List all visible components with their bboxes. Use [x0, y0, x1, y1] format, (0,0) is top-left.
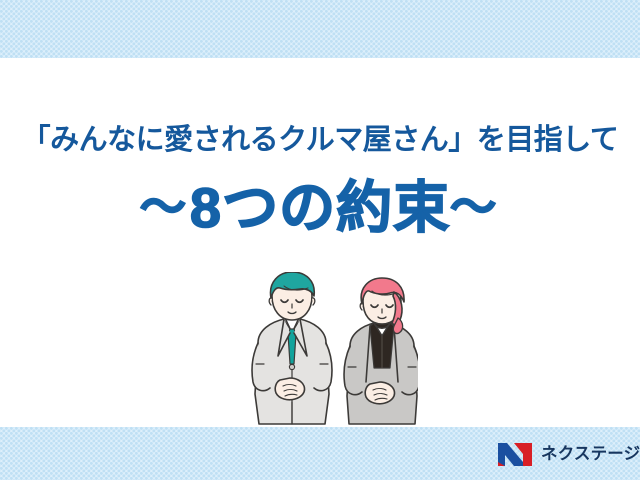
nexstage-logo: ネクステージ	[498, 441, 640, 467]
headline-tilde-left: ～	[140, 181, 190, 233]
staff-illustration	[228, 272, 418, 432]
male-staff-figure	[252, 272, 332, 424]
headline-main: ～8つの約束～	[0, 180, 640, 236]
nexstage-n-mark	[498, 443, 534, 466]
headline-subtitle: 「みんなに愛されるクルマ屋さん」を目指して	[0, 126, 640, 155]
headline-main-text: 8つの約束	[190, 176, 450, 239]
headline-tilde-right: ～	[450, 181, 500, 233]
top-dot-band	[0, 0, 640, 58]
female-staff-figure	[344, 278, 418, 424]
nexstage-logo-text: ネクステージ	[541, 446, 640, 463]
promo-banner: 「みんなに愛されるクルマ屋さん」を目指して ～8つの約束～	[0, 0, 640, 480]
